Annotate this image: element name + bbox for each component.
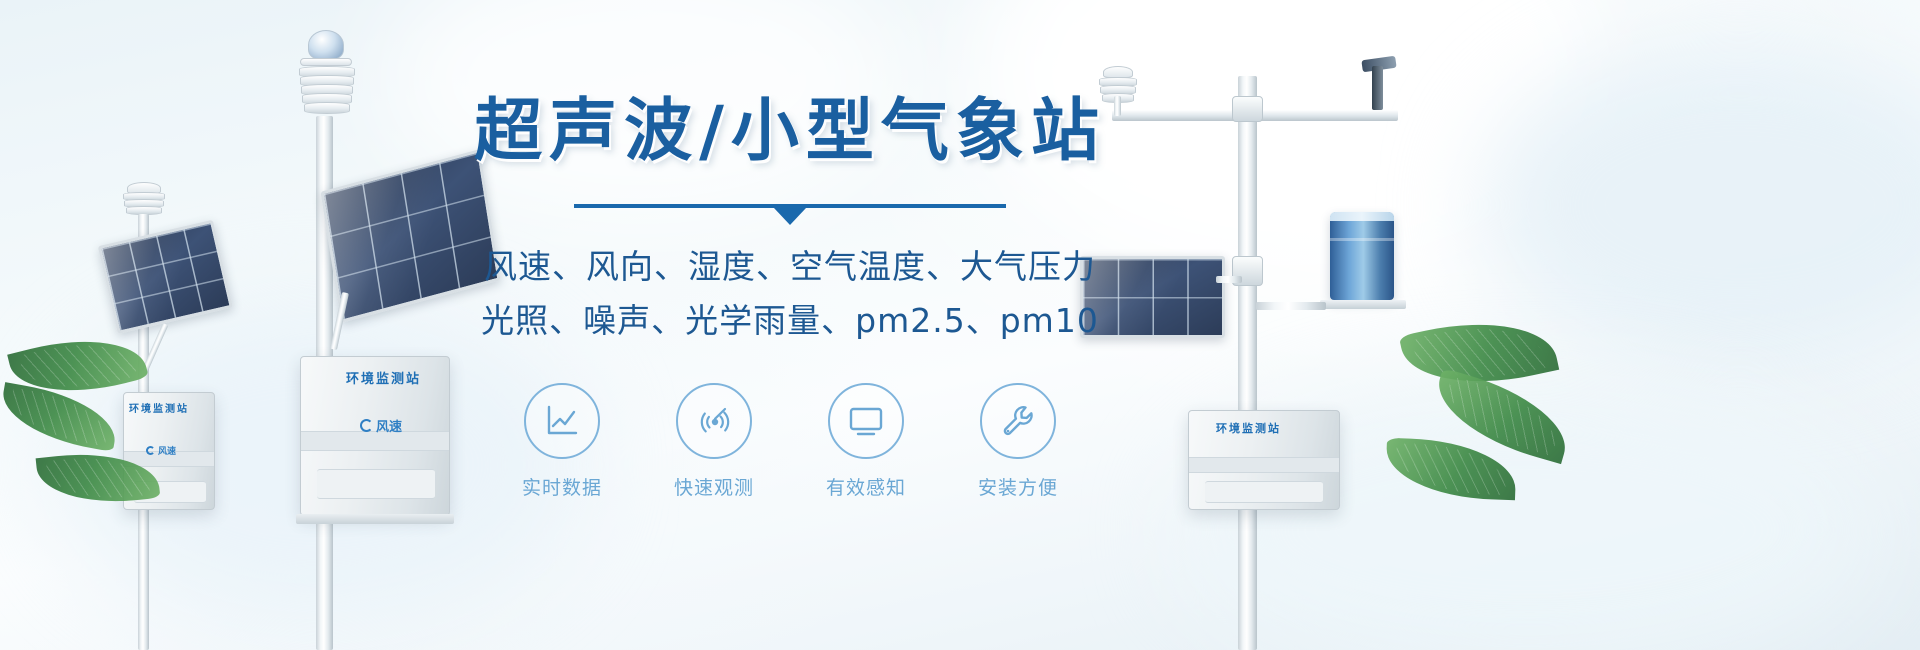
- feature-label: 实时数据: [522, 473, 602, 500]
- solar-panel: [98, 220, 233, 334]
- feature-item-effective-sensing[interactable]: 有效感知: [811, 383, 921, 500]
- feature-label: 安装方便: [978, 473, 1058, 500]
- feature-label: 快速观测: [674, 473, 754, 500]
- brand-name: 风速: [158, 444, 176, 457]
- anemometer-body: [1372, 66, 1383, 110]
- sensor-dome: [308, 30, 344, 60]
- cabinet-label: 环境监测站: [346, 368, 421, 387]
- feature-list: 实时数据 快速观测: [440, 383, 1140, 500]
- feature-icon-ring: [524, 383, 600, 459]
- page-title: 超声波/小型气象站: [440, 96, 1140, 168]
- title-divider: [574, 204, 1006, 208]
- cabinet-label: 环境监测站: [129, 400, 189, 415]
- radiation-shield-icon: [298, 66, 356, 122]
- shelf-arm: [1256, 302, 1326, 310]
- product-banner: 环境监测站 风速 环境监测站 风速: [0, 0, 1920, 650]
- cabinet-base: [296, 514, 454, 524]
- line-chart-icon: [542, 401, 582, 441]
- brand-logo: 风速: [360, 416, 402, 435]
- feature-item-realtime-data[interactable]: 实时数据: [507, 383, 617, 500]
- radar-signal-icon: [694, 401, 734, 441]
- leaf-decoration: [0, 382, 121, 452]
- rain-gauge: [1330, 212, 1394, 300]
- gauge-shelf: [1320, 300, 1406, 309]
- subtitle-line-2: 光照、噪声、光学雨量、pm2.5、pm10: [440, 294, 1140, 347]
- sensor-brim: [300, 58, 352, 66]
- panel-arm: [1216, 276, 1242, 283]
- feature-item-easy-installation[interactable]: 安装方便: [963, 383, 1073, 500]
- subtitle-block: 风速、风向、湿度、空气温度、大气压力 光照、噪声、光学雨量、pm2.5、pm10: [440, 240, 1140, 347]
- banner-content: 超声波/小型气象站 风速、风向、湿度、空气温度、大气压力 光照、噪声、光学雨量、…: [440, 96, 1140, 500]
- feature-label: 有效感知: [826, 473, 906, 500]
- cabinet-label: 环境监测站: [1216, 420, 1281, 436]
- monitor-icon: [845, 401, 887, 441]
- background-glow: [1480, 40, 1920, 370]
- wrench-icon: [997, 400, 1039, 442]
- brand-logo: 风速: [146, 444, 176, 457]
- brand-name: 风速: [376, 416, 402, 435]
- subtitle-line-1: 风速、风向、湿度、空气温度、大气压力: [440, 240, 1140, 293]
- mast-pole: [1238, 76, 1257, 650]
- feature-icon-ring: [828, 383, 904, 459]
- mast-collar: [1232, 96, 1263, 122]
- down-triangle-marker-icon: [774, 208, 806, 225]
- leaf-decoration: [1385, 438, 1517, 501]
- feature-item-fast-observation[interactable]: 快速观测: [659, 383, 769, 500]
- radiation-shield-icon: [122, 182, 166, 218]
- feature-icon-ring: [980, 383, 1056, 459]
- feature-icon-ring: [676, 383, 752, 459]
